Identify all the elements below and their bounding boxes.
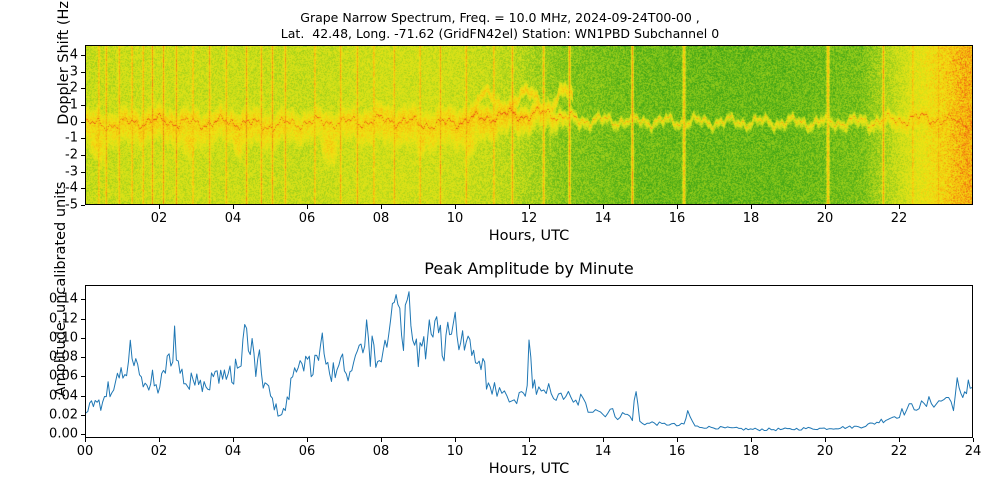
tick-mark (603, 205, 604, 209)
figure-suptitle: Grape Narrow Spectrum, Freq. = 10.0 MHz,… (0, 10, 1000, 42)
spectrogram-xtick-14: 14 (595, 211, 612, 226)
amplitude-line-series (86, 286, 972, 437)
tick-mark (677, 205, 678, 209)
amplitude-xtick-20: 20 (817, 444, 834, 459)
spectrogram-xtick-20: 20 (817, 211, 834, 226)
spectrogram-xtick-22: 22 (891, 211, 908, 226)
tick-mark (677, 438, 678, 442)
tick-mark (81, 172, 85, 173)
tick-mark (81, 299, 85, 300)
amplitude-ytick-0.00: 0.00 (49, 427, 78, 442)
tick-mark (825, 205, 826, 209)
tick-mark (381, 205, 382, 209)
spectrogram-x-axis-label: Hours, UTC (85, 228, 973, 244)
amplitude-xtick-12: 12 (521, 444, 538, 459)
amplitude-xtick-22: 22 (891, 444, 908, 459)
amplitude-xtick-16: 16 (669, 444, 686, 459)
amplitude-ytick-0.10: 0.10 (49, 330, 78, 345)
tick-mark (81, 357, 85, 358)
amplitude-xtick-00: 00 (77, 444, 94, 459)
tick-mark (81, 88, 85, 89)
amplitude-plot-area (85, 285, 973, 438)
tick-mark (81, 338, 85, 339)
amplitude-ytick-0.08: 0.08 (49, 350, 78, 365)
spectrogram-xtick-12: 12 (521, 211, 538, 226)
tick-mark (81, 188, 85, 189)
amplitude-xtick-14: 14 (595, 444, 612, 459)
tick-mark (81, 376, 85, 377)
amplitude-xtick-04: 04 (225, 444, 242, 459)
tick-mark (81, 415, 85, 416)
amplitude-ytick-0.12: 0.12 (49, 311, 78, 326)
suptitle-line-2: Lat. 42.48, Long. -71.62 (GridFN42el) St… (281, 26, 719, 41)
spectrogram-ytick-1: 1 (70, 98, 78, 113)
spectrogram-xtick-18: 18 (743, 211, 760, 226)
amplitude-y-axis-label: Amplitude, uncalibrated units (53, 124, 69, 454)
amplitude-xtick-02: 02 (151, 444, 168, 459)
tick-mark (825, 438, 826, 442)
spectrogram-ytick-0: 0 (70, 114, 78, 129)
tick-mark (973, 438, 974, 442)
spectrogram-xtick-16: 16 (669, 211, 686, 226)
tick-mark (81, 72, 85, 73)
tick-mark (81, 122, 85, 123)
tick-mark (81, 55, 85, 56)
amplitude-ytick-0.02: 0.02 (49, 407, 78, 422)
tick-mark (455, 438, 456, 442)
tick-mark (159, 438, 160, 442)
amplitude-ytick-0.04: 0.04 (49, 388, 78, 403)
amplitude-xtick-06: 06 (299, 444, 316, 459)
amplitude-xtick-08: 08 (373, 444, 390, 459)
amplitude-ytick-0.14: 0.14 (49, 292, 78, 307)
tick-mark (81, 155, 85, 156)
tick-mark (381, 438, 382, 442)
amplitude-plot-title: Peak Amplitude by Minute (85, 259, 973, 278)
amplitude-polyline (86, 292, 972, 431)
spectrogram-xtick-10: 10 (447, 211, 464, 226)
spectrogram-image (86, 46, 972, 204)
tick-mark (529, 205, 530, 209)
tick-mark (307, 438, 308, 442)
tick-mark (233, 438, 234, 442)
tick-mark (81, 434, 85, 435)
amplitude-xtick-24: 24 (965, 444, 982, 459)
tick-mark (899, 205, 900, 209)
tick-mark (529, 438, 530, 442)
amplitude-x-axis-label: Hours, UTC (85, 461, 973, 477)
tick-mark (81, 319, 85, 320)
suptitle-line-1: Grape Narrow Spectrum, Freq. = 10.0 MHz,… (300, 10, 699, 25)
spectrogram-ytick-4: 4 (70, 48, 78, 63)
tick-mark (81, 105, 85, 106)
spectrogram-ytick-3: 3 (70, 64, 78, 79)
spectrogram-xtick-06: 06 (299, 211, 316, 226)
figure-canvas: Grape Narrow Spectrum, Freq. = 10.0 MHz,… (0, 0, 1000, 500)
tick-mark (81, 205, 85, 206)
spectrogram-plot-area (85, 45, 973, 205)
amplitude-ytick-0.06: 0.06 (49, 369, 78, 384)
tick-mark (751, 438, 752, 442)
tick-mark (81, 138, 85, 139)
tick-mark (159, 205, 160, 209)
spectrogram-xtick-08: 08 (373, 211, 390, 226)
spectrogram-ytick-2: 2 (70, 81, 78, 96)
spectrogram-xtick-02: 02 (151, 211, 168, 226)
tick-mark (751, 205, 752, 209)
tick-mark (307, 205, 308, 209)
tick-mark (233, 205, 234, 209)
tick-mark (899, 438, 900, 442)
amplitude-xtick-18: 18 (743, 444, 760, 459)
tick-mark (603, 438, 604, 442)
tick-mark (455, 205, 456, 209)
amplitude-xtick-10: 10 (447, 444, 464, 459)
spectrogram-xtick-04: 04 (225, 211, 242, 226)
tick-mark (81, 396, 85, 397)
tick-mark (85, 438, 86, 442)
